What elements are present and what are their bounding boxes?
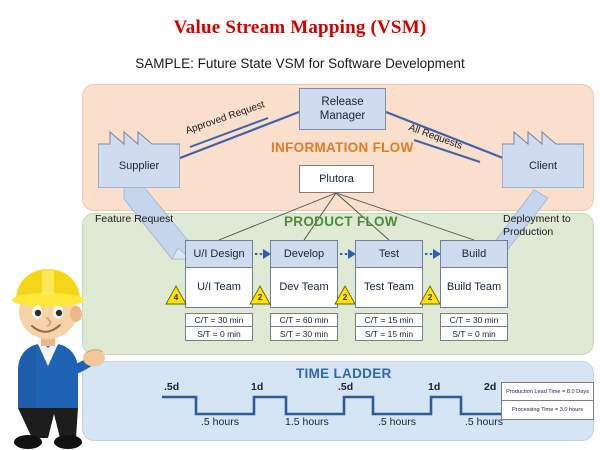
deployment-label-line1: Deployment to [503, 213, 571, 226]
ladder-day-label: .5d [164, 381, 179, 393]
deployment-label-line2: Production [503, 226, 571, 239]
process-name: Test [355, 240, 423, 268]
ladder-hour-label: .5 hours [201, 416, 239, 428]
process-name: Develop [270, 240, 338, 268]
process-team: Dev Team [270, 268, 338, 308]
process-box[interactable]: U/I Design U/I Team C/T = 30 min S/T = 0… [185, 240, 253, 341]
ladder-hour-label: .5 hours [465, 416, 503, 428]
time-ladder-polyline [162, 397, 540, 414]
inventory-count: 2 [334, 292, 356, 302]
supplier-node[interactable]: Supplier [98, 130, 180, 188]
inventory-count: 4 [165, 292, 187, 302]
deployment-to-production-label: Deployment to Production [503, 213, 571, 239]
information-flow-label: INFORMATION FLOW [271, 140, 414, 155]
process-setup-time: S/T = 0 min [185, 327, 253, 341]
construction-worker-mascot-icon [2, 262, 106, 450]
release-manager-line1: Release [320, 95, 365, 109]
ladder-day-label: 1d [428, 381, 440, 393]
product-flow-label: PRODUCT FLOW [284, 214, 398, 229]
inventory-count: 2 [249, 292, 271, 302]
inventory-triangle-icon: 2 [334, 285, 356, 305]
process-team: Build Team [440, 268, 508, 308]
ladder-day-label: .5d [338, 381, 353, 393]
inventory-triangle-icon: 2 [419, 285, 441, 305]
process-box[interactable]: Test Test Team C/T = 15 min S/T = 15 min [355, 240, 423, 341]
time-summary-box: Production Lead Time = 8.0 Days Processi… [501, 382, 594, 420]
inventory-triangle-icon: 4 [165, 285, 187, 305]
production-lead-time: Production Lead Time = 8.0 Days [501, 382, 594, 401]
plutora-label: Plutora [319, 173, 354, 185]
process-cycle-time: C/T = 60 min [270, 313, 338, 327]
release-manager-line2: Manager [320, 109, 365, 123]
process-cycle-time: C/T = 15 min [355, 313, 423, 327]
client-label: Client [502, 130, 584, 188]
feature-request-label: Feature Request [95, 213, 173, 226]
process-box[interactable]: Develop Dev Team C/T = 60 min S/T = 30 m… [270, 240, 338, 341]
process-cycle-time: C/T = 30 min [440, 313, 508, 327]
supplier-label: Supplier [98, 130, 180, 188]
processing-time: Processing Time = 3.0 hours [501, 401, 594, 420]
inventory-triangle-icon: 2 [249, 285, 271, 305]
process-setup-time: S/T = 15 min [355, 327, 423, 341]
process-metrics: C/T = 15 min S/T = 15 min [355, 313, 423, 341]
process-metrics: C/T = 30 min S/T = 0 min [440, 313, 508, 341]
inventory-count: 2 [419, 292, 441, 302]
process-metrics: C/T = 60 min S/T = 30 min [270, 313, 338, 341]
ladder-day-label: 1d [251, 381, 263, 393]
process-team: U/I Team [185, 268, 253, 308]
process-name: Build [440, 240, 508, 268]
vsm-slide: Value Stream Mapping (VSM) SAMPLE: Futur… [0, 0, 600, 450]
ladder-hour-label: .5 hours [378, 416, 416, 428]
time-ladder-label: TIME LADDER [296, 366, 392, 381]
process-box[interactable]: Build Build Team C/T = 30 min S/T = 0 mi… [440, 240, 508, 341]
client-node[interactable]: Client [502, 130, 584, 188]
process-cycle-time: C/T = 30 min [185, 313, 253, 327]
ladder-hour-label: 1.5 hours [285, 416, 329, 428]
ladder-day-label: 2d [484, 381, 496, 393]
process-setup-time: S/T = 0 min [440, 327, 508, 341]
process-metrics: C/T = 30 min S/T = 0 min [185, 313, 253, 341]
process-team: Test Team [355, 268, 423, 308]
process-setup-time: S/T = 30 min [270, 327, 338, 341]
process-name: U/I Design [185, 240, 253, 268]
release-manager-node[interactable]: Release Manager [299, 88, 386, 130]
plutora-node[interactable]: Plutora [299, 165, 374, 193]
